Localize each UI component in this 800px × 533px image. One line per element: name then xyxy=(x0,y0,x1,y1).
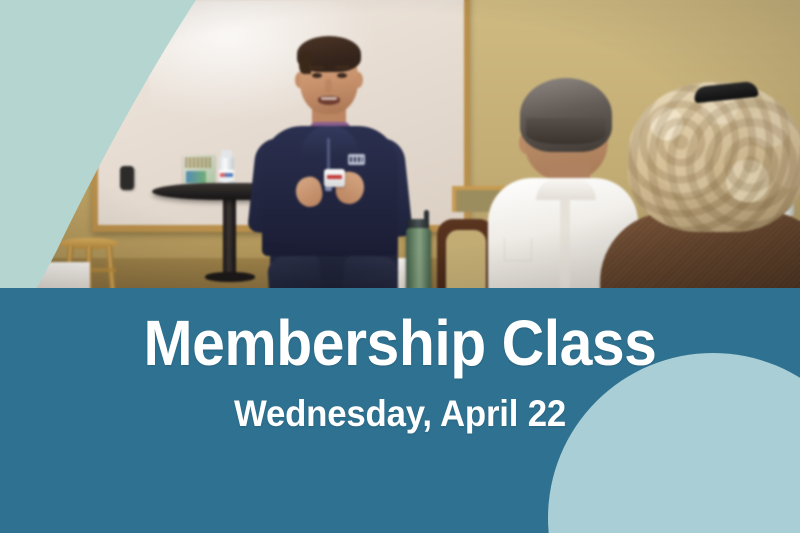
page-title: Membership Class xyxy=(32,288,768,377)
audience-man-hair xyxy=(520,78,612,152)
audience-woman-hair-curls xyxy=(628,82,800,232)
audience-man-shirt-placket xyxy=(560,196,570,292)
whiteboard-magnet-icon xyxy=(120,166,134,190)
event-photo xyxy=(0,0,800,292)
speaker-eye-right xyxy=(337,73,347,78)
speaker-knee-left xyxy=(267,254,322,292)
event-date: Wednesday, April 22 xyxy=(24,377,776,435)
speaker-knee-right xyxy=(343,255,399,292)
title-band: Membership Class Wednesday, April 22 xyxy=(0,288,800,533)
speaker-nose xyxy=(325,79,332,93)
water-bottle-cap xyxy=(221,150,232,158)
speaker-brow-right xyxy=(335,66,350,69)
membership-class-poster: Membership Class Wednesday, April 22 xyxy=(0,0,800,533)
water-bottle-label xyxy=(219,170,234,181)
title-block: Membership Class Wednesday, April 22 xyxy=(0,288,800,435)
table-stem xyxy=(223,196,236,278)
audience-man-shirt-pocket xyxy=(504,238,532,261)
speaker-hair xyxy=(297,36,361,72)
speaker-brow-left xyxy=(309,66,324,69)
speaker-held-object xyxy=(324,169,345,187)
green-water-bottle xyxy=(406,228,431,292)
speaker-jacket-logo xyxy=(348,154,365,165)
wooden-chair xyxy=(437,219,495,292)
speaker-eye-left xyxy=(312,73,322,78)
speaker-mouth xyxy=(318,96,340,105)
photo-scene xyxy=(0,0,800,292)
